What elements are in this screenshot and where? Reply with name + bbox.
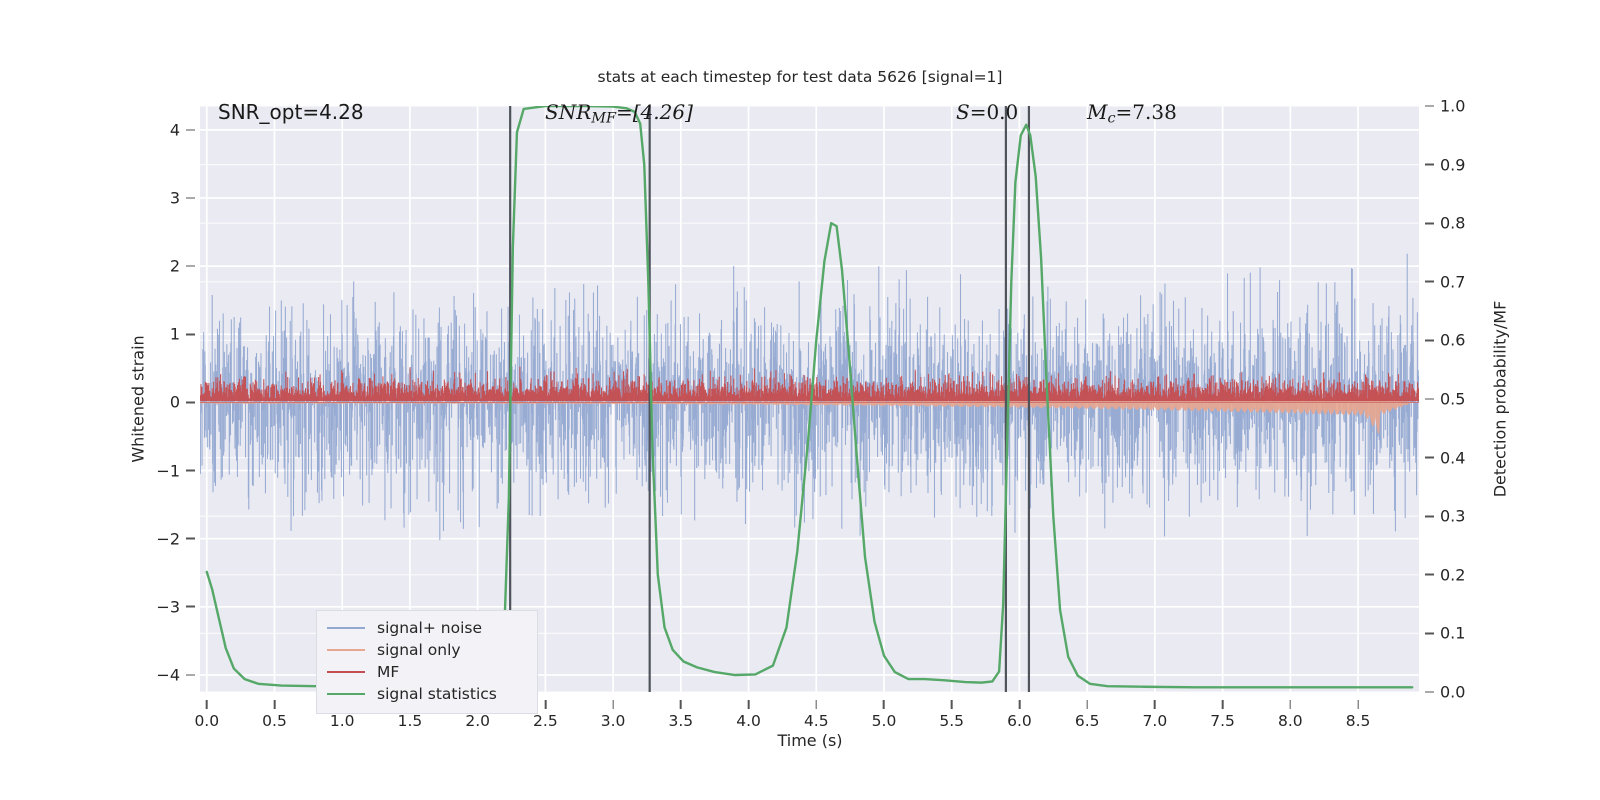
y-tick-right-label-6: 0.6 xyxy=(1440,331,1465,350)
legend-swatch-signal-statistics xyxy=(327,693,365,696)
tick-dash xyxy=(186,606,195,608)
tick-dash xyxy=(612,700,614,709)
tick-dash xyxy=(1425,398,1434,400)
y-tick-right-label-4: 0.4 xyxy=(1440,448,1465,467)
tick-dash xyxy=(1019,700,1021,709)
x-tick-label-1: 0.5 xyxy=(262,712,287,730)
x-tick-label-8: 4.0 xyxy=(736,712,761,730)
y-tick-right-6: 0.6 xyxy=(1425,331,1465,350)
y-tick-right-4: 0.4 xyxy=(1425,448,1465,467)
tick-dash xyxy=(1425,222,1434,224)
x-tick-15: 7.5 xyxy=(1210,700,1235,730)
y-tick-left-label-4: 0 xyxy=(170,393,180,412)
x-tick-label-3: 1.5 xyxy=(398,712,423,730)
legend-item-mf[interactable]: MF xyxy=(327,661,527,683)
y-tick-right-label-8: 0.8 xyxy=(1440,214,1465,233)
x-tick-label-5: 2.5 xyxy=(533,712,558,730)
x-tick-17: 8.5 xyxy=(1346,700,1371,730)
x-tick-8: 4.0 xyxy=(736,700,761,730)
y-tick-right-label-1: 0.1 xyxy=(1440,624,1465,643)
x-tick-label-11: 5.5 xyxy=(939,712,964,730)
x-axis-label: Time (s) xyxy=(777,731,842,750)
x-tick-6: 3.0 xyxy=(601,700,626,730)
x-tick-11: 5.5 xyxy=(939,700,964,730)
y-axis-right-label: Detection probability/MF xyxy=(1491,301,1510,498)
tick-dash xyxy=(1222,700,1224,709)
y-tick-left-7: 3 xyxy=(170,188,195,207)
legend-swatch-mf xyxy=(327,671,365,674)
legend-label-signal-only: signal only xyxy=(377,641,461,659)
tick-dash xyxy=(186,265,195,267)
y-tick-left-6: 2 xyxy=(170,257,195,276)
annotation-mc-text: Mc=7.38 xyxy=(1087,100,1177,124)
x-tick-label-4: 2.0 xyxy=(465,712,490,730)
y-tick-left-label-8: 4 xyxy=(170,120,180,139)
x-tick-label-9: 4.5 xyxy=(804,712,829,730)
y-tick-right-3: 0.3 xyxy=(1425,507,1465,526)
tick-dash xyxy=(1154,700,1156,709)
x-tick-label-10: 5.0 xyxy=(872,712,897,730)
legend-swatch-signal-noise xyxy=(327,627,365,630)
tick-dash xyxy=(186,538,195,540)
legend-item-signal-noise[interactable]: signal+ noise xyxy=(327,617,527,639)
y-axis-left-label: Whitened strain xyxy=(129,335,148,462)
y-tick-left-label-2: −2 xyxy=(156,529,180,548)
tick-dash xyxy=(1425,515,1434,517)
y-tick-left-label-1: −3 xyxy=(156,597,180,616)
annotation-snr-mf-text: SNRMF=[4.26] xyxy=(545,100,693,124)
legend-item-signal-statistics[interactable]: signal statistics xyxy=(327,683,527,705)
tick-dash xyxy=(206,700,208,709)
annotation-snr-opt-text: SNR_opt=4.28 xyxy=(218,100,364,124)
y-tick-right-label-5: 0.5 xyxy=(1440,390,1465,409)
annotation-snr-opt: SNR_opt=4.28 xyxy=(218,100,364,124)
x-tick-9: 4.5 xyxy=(804,700,829,730)
y-tick-right-label-9: 0.9 xyxy=(1440,155,1465,174)
y-tick-right-7: 0.7 xyxy=(1425,272,1465,291)
plot-canvas xyxy=(200,106,1419,692)
y-tick-right-1: 0.1 xyxy=(1425,624,1465,643)
y-tick-left-1: −3 xyxy=(156,597,195,616)
x-tick-label-13: 6.5 xyxy=(1075,712,1100,730)
y-tick-left-label-7: 3 xyxy=(170,188,180,207)
tick-dash xyxy=(1425,340,1434,342)
y-tick-left-label-5: 1 xyxy=(170,325,180,344)
tick-dash xyxy=(680,700,682,709)
x-tick-label-0: 0.0 xyxy=(194,712,219,730)
tick-dash xyxy=(186,333,195,335)
legend-swatch-signal-only xyxy=(327,649,365,652)
tick-dash xyxy=(1425,691,1434,693)
x-tick-1: 0.5 xyxy=(262,700,287,730)
x-tick-label-16: 8.0 xyxy=(1278,712,1303,730)
plot-area xyxy=(200,106,1419,692)
y-tick-right-label-10: 1.0 xyxy=(1440,97,1465,116)
legend-item-signal-only[interactable]: signal only xyxy=(327,639,527,661)
tick-dash xyxy=(186,402,195,404)
annotation-mc: Mc=7.38 xyxy=(1087,100,1177,127)
y-tick-left-label-3: −1 xyxy=(156,461,180,480)
tick-dash xyxy=(186,470,195,472)
tick-dash xyxy=(1425,281,1434,283)
tick-dash xyxy=(1425,105,1434,107)
x-tick-14: 7.0 xyxy=(1143,700,1168,730)
y-tick-left-2: −2 xyxy=(156,529,195,548)
y-tick-right-label-3: 0.3 xyxy=(1440,507,1465,526)
y-tick-right-label-0: 0.0 xyxy=(1440,683,1465,702)
x-tick-12: 6.0 xyxy=(1007,700,1032,730)
annotation-snr-mf: SNRMF=[4.26] xyxy=(545,100,693,127)
legend-label-mf: MF xyxy=(377,663,399,681)
tick-dash xyxy=(186,197,195,199)
tick-dash xyxy=(186,129,195,131)
y-tick-left-label-6: 2 xyxy=(170,257,180,276)
y-tick-left-3: −1 xyxy=(156,461,195,480)
tick-dash xyxy=(951,700,953,709)
x-tick-13: 6.5 xyxy=(1075,700,1100,730)
tick-dash xyxy=(545,700,547,709)
x-tick-label-14: 7.0 xyxy=(1143,712,1168,730)
y-tick-left-5: 1 xyxy=(170,325,195,344)
x-tick-label-15: 7.5 xyxy=(1210,712,1235,730)
tick-dash xyxy=(1425,164,1434,166)
tick-dash xyxy=(1289,700,1291,709)
tick-dash xyxy=(1357,700,1359,709)
y-tick-right-2: 0.2 xyxy=(1425,565,1465,584)
y-tick-right-8: 0.8 xyxy=(1425,214,1465,233)
x-tick-7: 3.5 xyxy=(668,700,693,730)
legend: signal+ noise signal only MF signal stat… xyxy=(316,610,538,714)
x-tick-16: 8.0 xyxy=(1278,700,1303,730)
tick-dash xyxy=(883,700,885,709)
x-tick-label-7: 3.5 xyxy=(668,712,693,730)
x-tick-label-12: 6.0 xyxy=(1007,712,1032,730)
tick-dash xyxy=(274,700,276,709)
x-tick-label-17: 8.5 xyxy=(1346,712,1371,730)
legend-label-signal-statistics: signal statistics xyxy=(377,685,497,703)
x-tick-10: 5.0 xyxy=(872,700,897,730)
y-tick-right-5: 0.5 xyxy=(1425,390,1465,409)
legend-label-signal-noise: signal+ noise xyxy=(377,619,482,637)
x-tick-0: 0.0 xyxy=(194,700,219,730)
page-title: stats at each timestep for test data 562… xyxy=(0,68,1600,86)
tick-dash xyxy=(1425,574,1434,576)
annotation-s-stat: S=0.0 xyxy=(956,100,1018,124)
tick-dash xyxy=(186,674,195,676)
y-tick-left-4: 0 xyxy=(170,393,195,412)
x-tick-label-2: 1.0 xyxy=(330,712,355,730)
figure: stats at each timestep for test data 562… xyxy=(0,0,1600,800)
tick-dash xyxy=(815,700,817,709)
y-tick-right-0: 0.0 xyxy=(1425,683,1465,702)
annotation-s-text: S=0.0 xyxy=(956,100,1018,124)
tick-dash xyxy=(1425,633,1434,635)
x-tick-label-6: 3.0 xyxy=(601,712,626,730)
y-tick-left-label-0: −4 xyxy=(156,665,180,684)
y-tick-left-8: 4 xyxy=(170,120,195,139)
y-tick-right-10: 1.0 xyxy=(1425,97,1465,116)
y-tick-right-label-7: 0.7 xyxy=(1440,272,1465,291)
tick-dash xyxy=(1086,700,1088,709)
y-tick-right-label-2: 0.2 xyxy=(1440,565,1465,584)
y-tick-right-9: 0.9 xyxy=(1425,155,1465,174)
tick-dash xyxy=(748,700,750,709)
tick-dash xyxy=(1425,457,1434,459)
y-tick-left-0: −4 xyxy=(156,665,195,684)
